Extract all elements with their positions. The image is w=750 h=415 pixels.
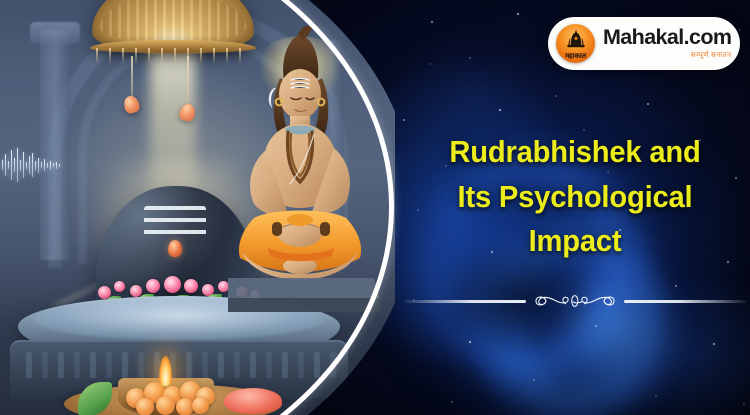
waveform-bar [41, 162, 42, 168]
garland-flower [146, 279, 160, 293]
waveform-bar [5, 154, 6, 176]
plinth-carving [16, 352, 342, 378]
logo-tagline: सम्पूर्ण सनातन [691, 50, 732, 60]
waveform-bar [23, 152, 24, 178]
waveform-bar [8, 161, 9, 169]
sweet-offering [224, 388, 282, 414]
divider-line-left [404, 300, 526, 303]
fruit-offering [192, 397, 209, 414]
page-title-line: Impact [412, 219, 737, 264]
fruit-offering [156, 396, 175, 415]
fruit-offering [136, 398, 154, 415]
shiva-abhishek-artwork [0, 0, 395, 415]
waveform-bar [29, 156, 30, 174]
tripundra-stripes [144, 206, 206, 236]
ornamental-flourish-divider-icon [530, 292, 620, 310]
pillar-capital [30, 22, 80, 44]
waveform-bar [2, 160, 3, 170]
waveform-bar [35, 161, 36, 170]
waveform-bar [14, 158, 15, 172]
logo-text-group: Mahakal.com सम्पूर्ण सनातन [603, 27, 731, 60]
garland-flower [114, 281, 125, 292]
bell-string [131, 56, 133, 98]
waveform-bar [50, 161, 51, 170]
blog-banner: महाकाल Mahakal.com सम्पूर्ण सनातन Rudrab… [0, 0, 750, 415]
waveform-bar [11, 150, 12, 180]
sound-waveform-icon [2, 148, 60, 182]
waveform-bar [56, 162, 57, 169]
page-title-line: Its Psychological [412, 175, 737, 220]
page-title-line: Rudrabhishek and [412, 130, 737, 175]
waveform-bar [47, 163, 48, 168]
page-title: Rudrabhishek andIts PsychologicalImpact [412, 130, 737, 264]
waveform-bar [32, 153, 33, 177]
waveform-bar [53, 163, 54, 167]
garland-flower [184, 279, 198, 293]
waveform-bar [44, 159, 45, 171]
logo-name: Mahakal.com [603, 27, 731, 49]
site-logo[interactable]: महाकाल Mahakal.com सम्पूर्ण सनातन [548, 17, 740, 70]
tilak-mark [168, 240, 182, 257]
divider-line-right [624, 300, 746, 303]
mahakal-badge-icon: महाकाल [556, 24, 595, 63]
bell-string [187, 56, 189, 106]
waveform-bar [59, 164, 60, 167]
waveform-bar [17, 148, 18, 182]
waveform-bar [20, 160, 21, 171]
dome-ridges [100, 0, 246, 42]
ornament-divider [404, 291, 746, 311]
waveform-bar [38, 158, 39, 173]
waveform-bar [26, 162, 27, 169]
badge-word: महाकाल [556, 53, 595, 60]
garland-flower [164, 276, 181, 293]
shiva-temple-silhouette-icon [563, 29, 589, 49]
